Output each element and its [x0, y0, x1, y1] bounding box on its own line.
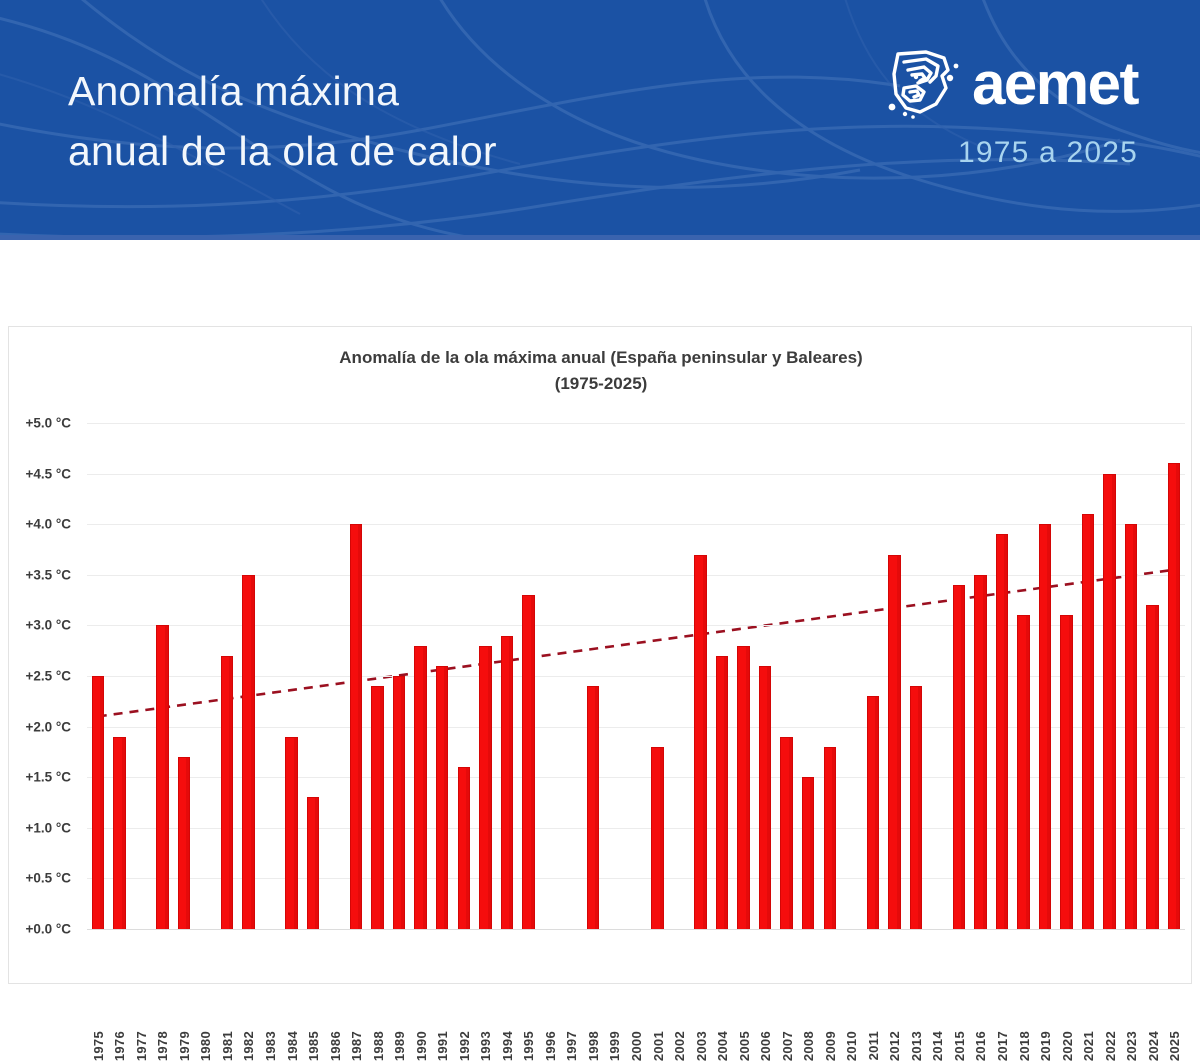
x-axis-tick-label: 2023 [1124, 1031, 1139, 1061]
brand-period-label: 1975 a 2025 [886, 136, 1138, 170]
x-axis-tick-label: 2021 [1081, 1031, 1096, 1061]
bar [307, 797, 319, 929]
bar [350, 524, 362, 929]
aemet-wordmark: aemet [972, 54, 1138, 114]
x-axis-tick-label: 2012 [887, 1031, 902, 1061]
x-axis-tick-label: 1979 [177, 1031, 192, 1061]
x-axis-tick-label: 2020 [1060, 1031, 1075, 1061]
x-axis-tick-label: 2013 [909, 1031, 924, 1061]
x-axis-tick-label: 2017 [995, 1031, 1010, 1061]
plot-wrapper: +0.0 °C+0.5 °C+1.0 °C+1.5 °C+2.0 °C+2.5 … [9, 327, 1193, 985]
bar [92, 676, 104, 929]
y-axis-tick-label: +3.0 °C [0, 618, 71, 633]
x-axis-tick-label: 2011 [866, 1031, 881, 1060]
x-axis-tick-label: 2010 [844, 1031, 859, 1061]
x-axis-tick-label: 1984 [285, 1031, 300, 1061]
bar [458, 767, 470, 929]
x-axis-tick-label: 2025 [1167, 1031, 1182, 1061]
x-axis-tick-label: 2008 [801, 1031, 816, 1061]
bar [178, 757, 190, 929]
bar [910, 686, 922, 929]
bar [1168, 463, 1180, 929]
x-axis-tick-label: 2007 [780, 1031, 795, 1061]
page-title: Anomalía máxima anual de la ola de calor [68, 62, 497, 182]
x-axis-tick-label: 1987 [349, 1031, 364, 1061]
y-axis-tick-label: +0.5 °C [0, 871, 71, 886]
x-axis-tick-label: 1994 [500, 1031, 515, 1061]
bar [113, 737, 125, 929]
bar [1017, 615, 1029, 929]
bar [780, 737, 792, 929]
x-axis-tick-label: 1975 [91, 1031, 106, 1061]
x-axis-tick-label: 1981 [220, 1031, 235, 1061]
bar [393, 676, 405, 929]
y-axis-tick-label: +1.5 °C [0, 770, 71, 785]
gridline [87, 423, 1185, 424]
bar [716, 656, 728, 929]
y-axis-tick-label: +1.0 °C [0, 820, 71, 835]
bar [414, 646, 426, 929]
x-axis-tick-label: 1980 [198, 1031, 213, 1061]
bar [242, 575, 254, 929]
x-axis-tick-label: 1989 [392, 1031, 407, 1061]
x-axis-tick-label: 1990 [414, 1031, 429, 1061]
bar [436, 666, 448, 929]
bar [479, 646, 491, 929]
x-axis-tick-label: 1999 [607, 1031, 622, 1061]
bar [888, 555, 900, 929]
x-axis-tick-label: 1976 [112, 1031, 127, 1061]
x-axis-tick-label: 1988 [371, 1031, 386, 1061]
x-axis-tick-label: 2004 [715, 1031, 730, 1061]
x-axis-tick-label: 2014 [930, 1031, 945, 1061]
x-axis-tick-label: 1983 [263, 1031, 278, 1061]
x-axis-tick-label: 1982 [241, 1031, 256, 1061]
x-axis-tick-label: 2001 [651, 1031, 666, 1061]
bar [694, 555, 706, 929]
bar [156, 625, 168, 929]
bar [1039, 524, 1051, 929]
x-axis-tick-label: 2003 [694, 1031, 709, 1061]
bar [974, 575, 986, 929]
y-axis-tick-label: +2.0 °C [0, 719, 71, 734]
plot-area: +0.0 °C+0.5 °C+1.0 °C+1.5 °C+2.0 °C+2.5 … [87, 423, 1185, 929]
x-axis-tick-label: 2019 [1038, 1031, 1053, 1061]
bar [651, 747, 663, 929]
x-axis-tick-label: 1991 [435, 1031, 450, 1061]
y-axis-tick-label: +3.5 °C [0, 567, 71, 582]
bar [522, 595, 534, 929]
bar [1060, 615, 1072, 929]
bar [953, 585, 965, 929]
x-axis-tick-label: 1992 [457, 1031, 472, 1061]
x-axis-tick-label: 2015 [952, 1031, 967, 1061]
bar [996, 534, 1008, 929]
bar [867, 696, 879, 929]
y-axis-tick-label: +4.5 °C [0, 466, 71, 481]
bar [802, 777, 814, 929]
axis-baseline [87, 929, 1185, 930]
x-axis-tick-label: 2002 [672, 1031, 687, 1061]
gridline [87, 474, 1185, 475]
bar [587, 686, 599, 929]
bar [371, 686, 383, 929]
x-axis-tick-label: 2022 [1103, 1031, 1118, 1061]
bar [1146, 605, 1158, 929]
aemet-brand: aemet 1975 a 2025 [886, 48, 1138, 170]
bar [1082, 514, 1094, 929]
bar [221, 656, 233, 929]
x-axis-tick-label: 1996 [543, 1031, 558, 1061]
y-axis-tick-label: +0.0 °C [0, 922, 71, 937]
x-axis-tick-label: 2000 [629, 1031, 644, 1061]
bar [285, 737, 297, 929]
x-axis-tick-label: 2005 [737, 1031, 752, 1061]
header-banner: Anomalía máxima anual de la ola de calor [0, 0, 1200, 240]
y-axis-tick-label: +5.0 °C [0, 416, 71, 431]
y-axis-tick-label: +2.5 °C [0, 669, 71, 684]
x-axis-tick-label: 2006 [758, 1031, 773, 1061]
gridline [87, 524, 1185, 525]
x-axis-tick-label: 1978 [155, 1031, 170, 1061]
bar [824, 747, 836, 929]
header-divider [0, 235, 1200, 240]
bar [1125, 524, 1137, 929]
x-axis-tick-label: 1998 [586, 1031, 601, 1061]
x-axis-tick-label: 2018 [1017, 1031, 1032, 1061]
x-axis-tick-label: 2024 [1146, 1031, 1161, 1061]
bar [759, 666, 771, 929]
x-axis-tick-label: 1977 [134, 1031, 149, 1061]
bar [501, 636, 513, 929]
x-axis-tick-label: 1985 [306, 1031, 321, 1061]
x-axis-tick-label: 2016 [973, 1031, 988, 1061]
bar [1103, 474, 1115, 929]
x-axis-tick-label: 1993 [478, 1031, 493, 1061]
bar [737, 646, 749, 929]
y-axis-tick-label: +4.0 °C [0, 517, 71, 532]
x-axis-tick-label: 1997 [564, 1031, 579, 1061]
aemet-peninsula-contour-icon [886, 48, 962, 120]
chart-card: Anomalía de la ola máxima anual (España … [8, 326, 1192, 984]
x-axis-tick-label: 1986 [328, 1031, 343, 1061]
x-axis-tick-label: 2009 [823, 1031, 838, 1061]
x-axis-tick-label: 1995 [521, 1031, 536, 1061]
